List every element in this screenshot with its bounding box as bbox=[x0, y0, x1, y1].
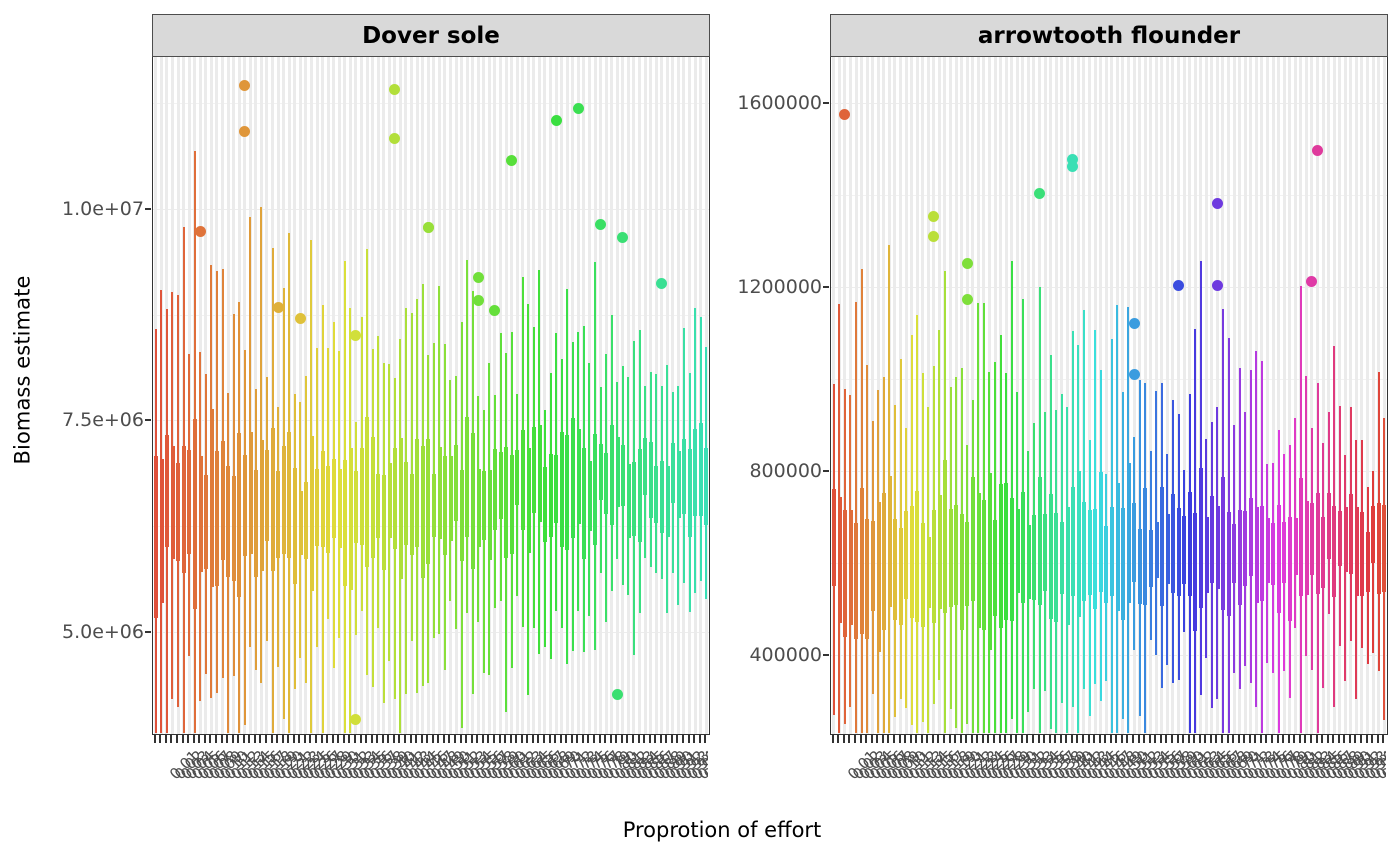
boxplot-box bbox=[1366, 532, 1370, 593]
boxplot-median bbox=[1038, 541, 1041, 543]
boxplot-box bbox=[243, 455, 247, 557]
x-axis-tick-mark bbox=[965, 735, 967, 743]
x-axis-tick-mark bbox=[259, 735, 261, 743]
x-axis-tick-mark bbox=[432, 735, 434, 743]
boxplot-median bbox=[660, 496, 663, 498]
x-axis-tick-mark bbox=[165, 735, 167, 743]
boxplot-box bbox=[1249, 498, 1253, 575]
x-axis-tick-mark bbox=[632, 735, 634, 743]
x-axis-tick-mark bbox=[276, 735, 278, 743]
boxplot-outlier-point bbox=[295, 313, 306, 324]
y-axis-tick-mark bbox=[823, 286, 829, 288]
x-axis-tick-mark bbox=[1254, 735, 1256, 743]
boxplot-box bbox=[999, 484, 1003, 629]
boxplot-median bbox=[915, 544, 918, 546]
boxplot-median bbox=[921, 571, 924, 573]
x-axis-tick-mark bbox=[1015, 735, 1017, 743]
x-axis-tick-mark bbox=[1338, 735, 1340, 743]
boxplot-box bbox=[838, 497, 842, 623]
x-axis-tick-mark bbox=[676, 735, 678, 743]
boxplot-box bbox=[610, 425, 614, 525]
boxplot-box bbox=[1032, 515, 1036, 600]
x-axis-tick-mark bbox=[521, 735, 523, 743]
boxplot-median bbox=[1349, 537, 1352, 539]
boxplot-median bbox=[1177, 547, 1180, 549]
boxplot-outlier-point bbox=[595, 219, 606, 230]
x-axis-tick-mark bbox=[1188, 735, 1190, 743]
x-axis-tick-mark bbox=[1304, 735, 1306, 743]
boxplot-median bbox=[1054, 557, 1057, 559]
x-axis-tick-mark bbox=[437, 735, 439, 743]
boxplot-median bbox=[515, 480, 518, 482]
boxplot-median bbox=[332, 501, 335, 503]
x-axis-tick-mark bbox=[415, 735, 417, 743]
boxplot-box bbox=[543, 467, 547, 542]
boxplot-box bbox=[854, 523, 858, 640]
boxplot-median bbox=[993, 572, 996, 574]
boxplot-box bbox=[326, 466, 330, 553]
x-axis-tick-mark bbox=[554, 735, 556, 743]
boxplot-median bbox=[1066, 564, 1069, 566]
boxplot-box bbox=[1149, 530, 1153, 587]
boxplot-box bbox=[1116, 483, 1120, 611]
x-axis-tick-mark bbox=[1076, 735, 1078, 743]
boxplot-box bbox=[1088, 510, 1092, 595]
boxplot-box bbox=[1310, 503, 1314, 575]
boxplot-outlier-point bbox=[489, 305, 500, 316]
y-axis-tick-mark bbox=[823, 654, 829, 656]
boxplot-median bbox=[415, 483, 418, 485]
x-axis-tick-mark bbox=[254, 735, 256, 743]
boxplot-outlier-point bbox=[928, 231, 939, 242]
x-axis-tick-mark bbox=[1060, 735, 1062, 743]
boxplot-median bbox=[1288, 560, 1291, 562]
boxplot-box bbox=[1255, 507, 1259, 603]
boxplot-median bbox=[1155, 549, 1158, 551]
x-axis-tick-mark bbox=[1227, 735, 1229, 743]
x-axis-tick-mark bbox=[404, 735, 406, 743]
boxplot-median bbox=[1299, 541, 1302, 543]
boxplot-box bbox=[1010, 498, 1014, 622]
boxplot-box bbox=[1210, 496, 1214, 584]
boxplot-median bbox=[927, 567, 930, 569]
x-axis-tick-mark bbox=[443, 735, 445, 743]
x-axis-tick-mark bbox=[1316, 735, 1318, 743]
x-axis-tick-mark bbox=[871, 735, 873, 743]
x-axis-tick-mark bbox=[1182, 735, 1184, 743]
boxplot-median bbox=[1110, 549, 1113, 551]
x-axis-tick-mark bbox=[1177, 735, 1179, 743]
boxplot-outlier-point bbox=[1067, 154, 1078, 165]
boxplot-box bbox=[310, 436, 314, 591]
boxplot-outlier-point bbox=[239, 126, 250, 137]
boxplot-box bbox=[1182, 516, 1186, 584]
plot-area-arrowtooth-flounder bbox=[830, 57, 1388, 735]
boxplot-box bbox=[254, 470, 258, 577]
x-axis-tick-mark bbox=[387, 735, 389, 743]
x-axis-tick-mark bbox=[610, 735, 612, 743]
boxplot-median bbox=[438, 491, 441, 493]
x-axis-tick-mark bbox=[565, 735, 567, 743]
boxplot-median bbox=[1249, 538, 1252, 540]
x-axis-tick-mark bbox=[865, 735, 867, 743]
boxplot-median bbox=[410, 514, 413, 516]
x-axis-tick-mark bbox=[1071, 735, 1073, 743]
boxplot-median bbox=[899, 573, 902, 575]
boxplot-outlier-point bbox=[473, 272, 484, 283]
boxplot-median bbox=[954, 546, 957, 548]
boxplot-box bbox=[1271, 523, 1275, 585]
boxplot-median bbox=[1143, 551, 1146, 553]
x-axis-tick-mark bbox=[471, 735, 473, 743]
x-axis-tick-mark bbox=[976, 735, 978, 743]
boxplot-box bbox=[187, 450, 191, 554]
x-axis-tick-mark bbox=[1377, 735, 1379, 743]
boxplot-median bbox=[666, 497, 669, 499]
x-axis-tick-mark bbox=[1138, 735, 1140, 743]
x-axis-tick-mark bbox=[1243, 735, 1245, 743]
boxplot-outlier-point bbox=[1173, 280, 1184, 291]
x-axis-tick-mark bbox=[560, 735, 562, 743]
x-axis-tick-mark bbox=[315, 735, 317, 743]
boxplot-median bbox=[488, 510, 491, 512]
x-axis-tick-mark bbox=[1126, 735, 1128, 743]
boxplot-median bbox=[638, 496, 641, 498]
boxplot-median bbox=[932, 563, 935, 565]
x-axis-tick-mark bbox=[176, 735, 178, 743]
boxplot-outlier-point bbox=[239, 80, 250, 91]
x-axis-tick-mark bbox=[410, 735, 412, 743]
x-axis-tick-mark bbox=[1210, 735, 1212, 743]
x-axis-tick-mark bbox=[593, 735, 595, 743]
boxplot-median bbox=[204, 513, 207, 515]
x-axis-tick-mark bbox=[493, 735, 495, 743]
boxplot-box bbox=[921, 523, 925, 627]
boxplot-median bbox=[971, 551, 974, 553]
boxplot-box bbox=[943, 460, 947, 613]
boxplot-median bbox=[1166, 545, 1169, 547]
boxplot-median bbox=[943, 552, 946, 554]
boxplot-box bbox=[265, 450, 269, 541]
x-axis-tick-mark bbox=[971, 735, 973, 743]
boxplot-median bbox=[482, 504, 485, 506]
x-axis-tick-mark bbox=[187, 735, 189, 743]
boxplot-median bbox=[310, 516, 313, 518]
boxplot-median bbox=[1121, 561, 1124, 563]
boxplot-median bbox=[1160, 537, 1163, 539]
boxplot-median bbox=[237, 516, 240, 518]
boxplot-median bbox=[643, 468, 646, 470]
boxplot-box bbox=[1277, 505, 1281, 613]
x-axis-ticks-arrowtooth-flounder bbox=[830, 735, 1386, 743]
x-axis-tick-mark bbox=[882, 735, 884, 743]
boxplot-box bbox=[1266, 518, 1270, 583]
facet-strip-label: arrowtooth flounder bbox=[978, 23, 1240, 49]
x-axis-tick-mark bbox=[1010, 735, 1012, 743]
boxplot-median bbox=[1210, 536, 1213, 538]
x-axis-tick-mark bbox=[643, 735, 645, 743]
x-axis-tick-mark bbox=[1038, 735, 1040, 743]
boxplot-box bbox=[1127, 463, 1131, 603]
boxplot-box bbox=[1288, 517, 1292, 621]
boxplot-median bbox=[527, 503, 530, 505]
boxplot-box bbox=[1021, 492, 1025, 603]
boxplot-median bbox=[1321, 551, 1324, 553]
x-axis-tick-mark bbox=[626, 735, 628, 743]
x-axis-tick-mark bbox=[587, 735, 589, 743]
boxplot-median bbox=[554, 485, 557, 487]
boxplot-box bbox=[632, 462, 636, 537]
x-axis-tick-mark bbox=[376, 735, 378, 743]
boxplot-median bbox=[1116, 540, 1119, 542]
boxplot-median bbox=[443, 507, 446, 509]
x-axis-tick-mark bbox=[1215, 735, 1217, 743]
boxplot-median bbox=[1060, 563, 1063, 565]
boxplot-median bbox=[682, 474, 685, 476]
x-axis-tick-mark bbox=[421, 735, 423, 743]
x-axis-tick-mark bbox=[1043, 735, 1045, 743]
boxplot-box bbox=[365, 417, 369, 567]
boxplot-median bbox=[1088, 559, 1091, 561]
boxplot-box bbox=[282, 446, 286, 554]
x-axis-tick-mark bbox=[932, 735, 934, 743]
x-axis-tick-mark bbox=[937, 735, 939, 743]
boxplot-median bbox=[454, 479, 457, 481]
boxplot-box bbox=[204, 475, 208, 569]
boxplot-median bbox=[688, 489, 691, 491]
boxplot-box bbox=[215, 451, 219, 586]
boxplot-median bbox=[1188, 537, 1191, 539]
boxplot-median bbox=[199, 515, 202, 517]
x-axis-tick-mark bbox=[960, 735, 962, 743]
boxplot-box bbox=[1260, 506, 1264, 602]
boxplot-box bbox=[299, 491, 303, 555]
boxplot-median bbox=[582, 503, 585, 505]
x-axis-tick-mark bbox=[532, 735, 534, 743]
x-axis-tick-mark bbox=[393, 735, 395, 743]
x-axis-tick-mark bbox=[887, 735, 889, 743]
x-axis-tick-mark bbox=[1366, 735, 1368, 743]
y-axis-tick-label: 400000 bbox=[749, 644, 822, 666]
boxplot-box bbox=[1049, 494, 1053, 620]
boxplot-box bbox=[666, 466, 670, 537]
x-axis-tick-mark bbox=[170, 735, 172, 743]
boxplot-box bbox=[616, 437, 620, 507]
boxplot-outlier-point bbox=[656, 278, 667, 289]
boxplot-box bbox=[199, 456, 203, 572]
boxplot-box bbox=[993, 520, 997, 616]
boxplot-outlier-point bbox=[839, 109, 850, 120]
boxplot-median bbox=[1132, 544, 1135, 546]
boxplot-median bbox=[982, 570, 985, 572]
boxplot-box bbox=[1377, 503, 1381, 594]
boxplot-box bbox=[360, 448, 364, 544]
boxplot-median bbox=[1032, 563, 1035, 565]
x-axis-tick-mark bbox=[1143, 735, 1145, 743]
x-axis-tick-mark bbox=[571, 735, 573, 743]
boxplot-box bbox=[154, 456, 158, 618]
boxplot-median bbox=[1305, 544, 1308, 546]
x-axis-tick-mark bbox=[1288, 735, 1290, 743]
boxplot-outlier-point bbox=[423, 222, 434, 233]
x-axis-tick-mark bbox=[476, 735, 478, 743]
plot-figure: Biomass estimate 1.0e+077.5e+065.0e+06 1… bbox=[0, 0, 1400, 866]
x-axis-title: Proprotion of effort bbox=[44, 818, 1400, 842]
boxplot-box bbox=[1238, 510, 1242, 605]
boxplot-median bbox=[249, 496, 252, 498]
boxplot-box bbox=[354, 471, 358, 543]
boxplot-box bbox=[388, 463, 392, 538]
boxplot-box bbox=[527, 448, 531, 553]
x-axis-tick-mark bbox=[204, 735, 206, 743]
boxplot-median bbox=[1344, 539, 1347, 541]
x-axis-tick-mark bbox=[843, 735, 845, 743]
boxplot-median bbox=[599, 470, 602, 472]
x-axis-tick-mark bbox=[1121, 735, 1123, 743]
x-axis-tick-mark bbox=[1260, 735, 1262, 743]
boxplot-box bbox=[249, 432, 253, 554]
boxplot-median bbox=[477, 503, 480, 505]
x-axis-tick-mark bbox=[182, 735, 184, 743]
boxplot-median bbox=[338, 508, 341, 510]
x-axis-tick-mark bbox=[499, 735, 501, 743]
boxplot-median bbox=[1360, 554, 1363, 556]
x-axis-tick-mark bbox=[949, 735, 951, 743]
boxplot-outlier-point bbox=[612, 689, 623, 700]
x-axis-tick-mark bbox=[660, 735, 662, 743]
boxplot-median bbox=[1238, 553, 1241, 555]
x-axis-tick-mark bbox=[621, 735, 623, 743]
boxplot-median bbox=[632, 492, 635, 494]
boxplot-box bbox=[304, 482, 308, 559]
boxplot-box bbox=[554, 455, 558, 523]
boxplot-box bbox=[221, 441, 225, 560]
boxplot-box bbox=[954, 505, 958, 605]
x-axis-tick-mark bbox=[371, 735, 373, 743]
x-axis-tick-mark bbox=[1021, 735, 1023, 743]
x-axis-tick-mark bbox=[1104, 735, 1106, 743]
x-axis-tick-mark bbox=[265, 735, 267, 743]
x-axis-tick-mark bbox=[860, 735, 862, 743]
boxplot-box bbox=[471, 433, 475, 568]
boxplot-box bbox=[371, 437, 375, 557]
boxplot-median bbox=[1221, 534, 1224, 536]
boxplot-median bbox=[593, 497, 596, 499]
boxplot-median bbox=[365, 500, 368, 502]
boxplot-box bbox=[260, 440, 264, 570]
boxplot-series bbox=[153, 57, 709, 734]
boxplot-median bbox=[1277, 554, 1280, 556]
x-axis-tick-mark bbox=[304, 735, 306, 743]
boxplot-median bbox=[388, 496, 391, 498]
boxplot-median bbox=[577, 480, 580, 482]
x-axis-tick-mark bbox=[510, 735, 512, 743]
boxplot-median bbox=[282, 505, 285, 507]
boxplot-outlier-point bbox=[195, 226, 206, 237]
boxplot-median bbox=[1316, 551, 1319, 553]
boxplot-box bbox=[332, 459, 336, 539]
boxplot-median bbox=[1255, 549, 1258, 551]
boxplot-outlier-point bbox=[1212, 280, 1223, 291]
x-axis-tick-mark bbox=[1349, 735, 1351, 743]
x-axis-tick-mark bbox=[1065, 735, 1067, 743]
boxplot-median bbox=[1205, 554, 1208, 556]
boxplot-median bbox=[849, 566, 852, 568]
x-axis-tick-mark bbox=[354, 735, 356, 743]
boxplot-box bbox=[565, 435, 569, 550]
boxplot-box bbox=[343, 460, 347, 585]
x-axis-tick-mark bbox=[1282, 735, 1284, 743]
boxplot-outlier-point bbox=[1034, 188, 1045, 199]
boxplot-median bbox=[187, 506, 190, 508]
boxplot-median bbox=[426, 504, 429, 506]
y-axis-title-text: Biomass estimate bbox=[10, 276, 34, 465]
boxplot-median bbox=[221, 497, 224, 499]
x-axis-tick-mark bbox=[287, 735, 289, 743]
x-axis-tick-mark bbox=[943, 735, 945, 743]
boxplot-box bbox=[910, 506, 914, 618]
boxplot-median bbox=[1377, 551, 1380, 553]
boxplot-outlier-point bbox=[1212, 198, 1223, 209]
x-axis-tick-mark bbox=[1132, 735, 1134, 743]
x-axis-tick-mark bbox=[1293, 735, 1295, 743]
boxplot-median bbox=[1338, 539, 1341, 541]
x-axis-tick-mark bbox=[1271, 735, 1273, 743]
x-axis-tick-mark bbox=[848, 735, 850, 743]
boxplot-median bbox=[838, 565, 841, 567]
x-axis-tick-mark bbox=[226, 735, 228, 743]
boxplot-median bbox=[1199, 538, 1202, 540]
boxplot-median bbox=[493, 492, 496, 494]
boxplot-box bbox=[1143, 488, 1147, 605]
x-axis-tick-mark bbox=[232, 735, 234, 743]
x-axis-tick-mark bbox=[1249, 735, 1251, 743]
x-axis-tick-mark bbox=[1277, 735, 1279, 743]
y-axis-tick-mark bbox=[145, 419, 151, 421]
x-axis-tick-mark bbox=[615, 735, 617, 743]
boxplot-median bbox=[532, 479, 535, 481]
boxplot-box bbox=[571, 418, 575, 538]
x-axis-tick-mark bbox=[854, 735, 856, 743]
x-axis-tick-mark bbox=[954, 735, 956, 743]
boxplot-box bbox=[176, 463, 180, 561]
boxplot-median bbox=[1043, 545, 1046, 547]
x-axis-tick-mark bbox=[460, 735, 462, 743]
boxplot-median bbox=[1127, 544, 1130, 546]
x-axis-tick-mark bbox=[1165, 735, 1167, 743]
boxplot-box bbox=[654, 466, 658, 523]
boxplot-median bbox=[210, 497, 213, 499]
boxplot-box bbox=[1193, 513, 1197, 631]
x-axis-tick-mark bbox=[910, 735, 912, 743]
y-axis-tick-label: 5.0e+06 bbox=[62, 621, 144, 643]
boxplot-median bbox=[649, 480, 652, 482]
x-axis-tick-mark bbox=[348, 735, 350, 743]
boxplot-median bbox=[1021, 544, 1024, 546]
x-axis-tick-mark bbox=[1382, 735, 1384, 743]
boxplot-median bbox=[949, 557, 952, 559]
boxplot-median bbox=[154, 520, 157, 522]
x-axis-tick-mark bbox=[248, 735, 250, 743]
boxplot-outlier-point bbox=[506, 155, 517, 166]
boxplot-median bbox=[832, 548, 835, 550]
x-axis-tick-mark bbox=[599, 735, 601, 743]
boxplot-box bbox=[1104, 526, 1108, 604]
x-axis-tick-mark bbox=[154, 735, 156, 743]
boxplot-box bbox=[982, 500, 986, 630]
boxplot-median bbox=[704, 480, 707, 482]
boxplot-box bbox=[915, 491, 919, 622]
